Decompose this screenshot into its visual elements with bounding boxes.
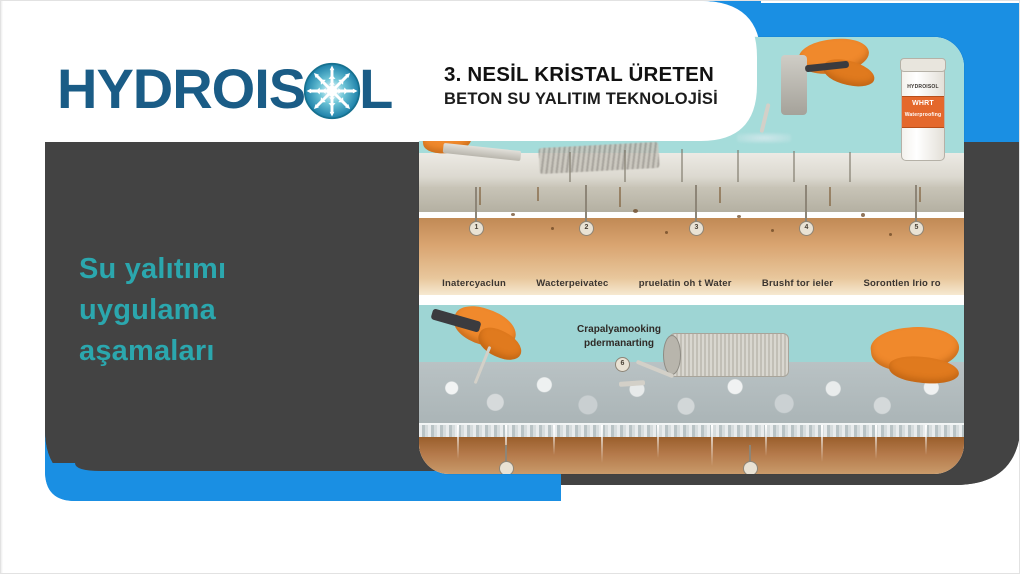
brand-logo[interactable]: HYDROIS (57, 56, 392, 118)
page-title-line1: Su yalıtımı (79, 249, 379, 290)
brand-wordmark-pre: HYDROIS (57, 61, 305, 117)
slide-canvas: WaterprooFeeatiive (0, 0, 1020, 574)
left-edge-shadow (1, 1, 3, 573)
step-label-row: Inatercyaclun Wacterpeivatec pruelatin o… (419, 278, 964, 289)
step-label-4: Brushf tor ieler (762, 278, 833, 289)
step-label-3: pruelatin oh t Water (639, 278, 732, 289)
step-callout-3: 3 (689, 221, 704, 236)
header-title-line1: 3. NESİL KRİSTAL ÜRETEN (444, 63, 744, 87)
scene2-callout-left (499, 461, 514, 474)
scene-slab-body (419, 187, 964, 213)
snowflake-icon (303, 62, 361, 120)
step-callout-4: 4 (799, 221, 814, 236)
header-title: 3. NESİL KRİSTAL ÜRETEN BETON SU YALITIM… (444, 63, 744, 109)
step-label-5: Sorontlen Irio ro (864, 278, 941, 289)
scene2-caption: Crapalyamooking pdermanarting (549, 323, 689, 350)
scene2-callout: 6 (615, 357, 630, 372)
step-label-2: Wacterpeivatec (536, 278, 608, 289)
step-label-1: Inatercyaclun (442, 278, 506, 289)
illustration-bottom-scene: Crapalyamooking pdermanarting 6 (419, 305, 964, 474)
scene2-callout-right (743, 461, 758, 474)
step-callout-5: 5 (909, 221, 924, 236)
scene2-caption-line2: pdermanarting (549, 337, 689, 351)
scene2-caption-line1: Crapalyamooking (549, 323, 689, 337)
page-title-line2: uygulama (79, 290, 379, 331)
page-title-line3: aşamaları (79, 331, 379, 372)
header-title-line2: BETON SU YALITIM TEKNOLOJİSİ (444, 89, 744, 110)
brand-wordmark-post: L (359, 61, 392, 117)
page-title: Su yalıtımı uygulama aşamaları (79, 249, 379, 373)
step-callout-1: 1 (469, 221, 484, 236)
brand-wordmark: HYDROIS (57, 56, 392, 117)
step-callout-2: 2 (579, 221, 594, 236)
